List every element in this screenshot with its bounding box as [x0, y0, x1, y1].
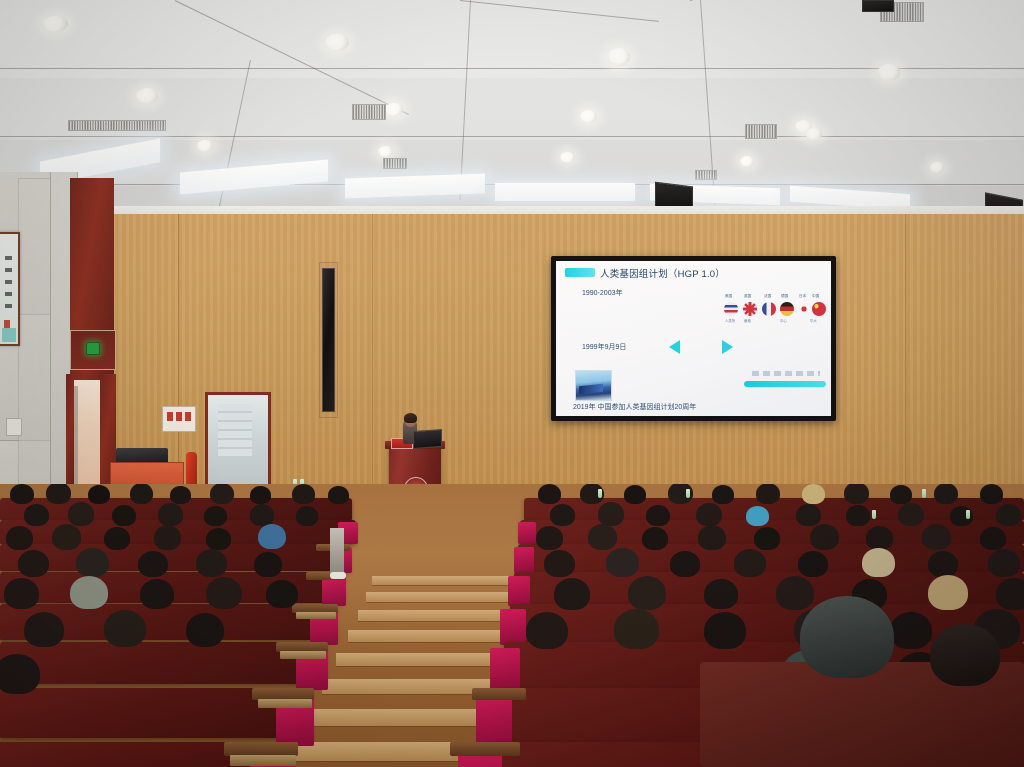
ceiling-downlight — [580, 110, 597, 123]
flag-caption: 法国 — [764, 294, 771, 299]
audience-head — [544, 550, 575, 577]
projection-screen[interactable]: 人类基因组计划（HGP 1.0） 1990-2003年 1999年9月9日 20… — [551, 256, 836, 421]
audience-head — [6, 526, 33, 550]
audience-head — [934, 484, 958, 504]
ceiling-downlight — [325, 34, 349, 51]
wall-box — [6, 418, 22, 436]
title-accent-tag — [565, 268, 595, 277]
audience-head — [930, 624, 1000, 686]
audience-head — [88, 485, 110, 504]
audience-head — [862, 548, 895, 577]
audience-head — [130, 484, 153, 504]
audience-head — [734, 549, 766, 577]
audience-head — [104, 610, 146, 647]
audience-head — [328, 486, 349, 504]
ceiling-downlight — [197, 140, 213, 152]
ceiling-air-vent — [68, 120, 166, 131]
presenter-laptop — [413, 429, 442, 449]
audience-head — [154, 525, 181, 550]
audience-head — [646, 505, 670, 526]
audience-head — [614, 609, 659, 649]
audience-head — [24, 504, 49, 526]
ceiling-downlight — [378, 146, 393, 157]
audience-head — [292, 484, 315, 504]
audience-head — [76, 548, 109, 577]
audience-head — [18, 550, 49, 577]
audience-head — [140, 579, 174, 609]
audience-head — [754, 527, 780, 550]
audience-head — [606, 548, 639, 577]
audience-head — [112, 505, 136, 526]
doorway-tile-detail — [218, 404, 252, 456]
ceiling-air-vent — [352, 104, 386, 120]
audience-head — [846, 505, 870, 526]
audience-head — [70, 576, 108, 609]
ceiling-downlight — [930, 162, 944, 173]
audience-head — [138, 551, 168, 577]
flag-subcaption: 人类所 — [725, 318, 735, 323]
ceiling-downlight — [42, 16, 68, 32]
group-photo-thumbnail — [575, 370, 612, 401]
audience-head — [258, 524, 286, 549]
audience-head — [68, 502, 94, 526]
usa-flag-icon — [724, 302, 738, 316]
audience-head — [538, 484, 561, 504]
audience-head — [170, 486, 191, 504]
audience-head — [266, 580, 298, 608]
audience-head — [696, 503, 722, 526]
audience-head — [802, 484, 825, 504]
audience-head — [800, 596, 894, 678]
audience-head — [526, 612, 568, 649]
audience-head — [24, 612, 64, 647]
ceiling-downlight — [740, 156, 754, 167]
audience-head — [624, 485, 646, 504]
france-flag-icon — [762, 302, 776, 316]
ceiling-panel-light — [495, 183, 635, 201]
flag-caption: 日本 — [799, 294, 806, 299]
audience-head — [996, 504, 1021, 526]
slide-bottom-caption: 2019年 中国参加人类基因组计划20周年 — [573, 402, 696, 412]
column-loudspeaker — [322, 268, 335, 412]
audience-head — [996, 578, 1024, 610]
audience-head — [158, 503, 183, 526]
audience-head — [980, 484, 1003, 504]
audience-head — [554, 578, 590, 610]
emergency-exit-sign — [86, 342, 100, 355]
audience-head — [704, 579, 738, 609]
audience-head — [204, 506, 227, 526]
audience-head — [988, 549, 1020, 577]
audience-head — [810, 524, 839, 550]
audience-head — [104, 527, 130, 550]
audience-head — [928, 551, 958, 577]
audience-head — [890, 485, 912, 504]
water-bottle — [966, 510, 970, 519]
audience-head — [712, 485, 734, 504]
audience-head — [46, 484, 71, 504]
ceiling-downlight — [608, 48, 630, 66]
cyan-highlight-bar — [744, 381, 826, 387]
flag-row: 美国 人类所 英国 桑格 法国 德国 中心 日本 中国 华大 — [724, 294, 828, 324]
audience-head — [296, 506, 318, 526]
flag-subcaption: 中心 — [780, 318, 787, 323]
arrow-left-icon — [669, 340, 680, 354]
germany-flag-icon — [780, 302, 794, 316]
audience-head — [698, 525, 726, 550]
water-bottle — [598, 489, 602, 498]
slide-surface: 人类基因组计划（HGP 1.0） 1990-2003年 1999年9月9日 20… — [556, 261, 831, 416]
water-bottle — [686, 489, 690, 498]
audience-head — [206, 528, 231, 550]
audience-head — [186, 613, 224, 647]
audience-seating — [0, 484, 1024, 767]
audience-head — [250, 486, 271, 504]
audience-head — [704, 612, 746, 649]
ceiling-downlight — [385, 103, 403, 116]
audience-head — [980, 527, 1006, 550]
slide-date-line: 1999年9月9日 — [582, 342, 626, 352]
audience-head — [928, 575, 968, 610]
flag-caption: 美国 — [725, 294, 732, 299]
water-bottle — [922, 489, 926, 498]
lecture-hall-photo: 人类基因组计划（HGP 1.0） 1990-2003年 1999年9月9日 20… — [0, 0, 1024, 767]
audience-head — [254, 552, 282, 577]
audience-head — [588, 524, 617, 550]
calligraphy-scroll — [0, 232, 20, 346]
audience-head — [10, 484, 34, 504]
wall-notice — [162, 406, 196, 432]
slide-title: 人类基因组计划（HGP 1.0） — [600, 266, 725, 280]
ceiling-air-vent — [745, 124, 777, 139]
audience-head — [756, 484, 780, 504]
slide-year-range: 1990-2003年 — [582, 288, 622, 298]
ceiling-downlight — [806, 128, 822, 140]
slide-footnote-text — [752, 371, 820, 376]
standing-attendee — [330, 528, 344, 574]
uk-flag-icon — [743, 302, 757, 316]
flag-subcaption: 桑格 — [744, 318, 751, 323]
arrow-right-icon — [722, 340, 733, 354]
audience-head — [4, 578, 39, 609]
flag-subcaption: 华大 — [810, 318, 817, 323]
presenter-hair — [404, 413, 417, 423]
ceiling-air-vent — [695, 170, 717, 180]
audience-head — [628, 576, 666, 610]
audience-head — [866, 526, 893, 550]
audience-head — [898, 503, 924, 526]
flag-caption: 中国 — [812, 294, 819, 299]
china-flag-icon — [812, 302, 826, 316]
audience-head — [536, 526, 563, 550]
flag-caption: 英国 — [744, 294, 751, 299]
ceiling-speaker — [862, 0, 894, 12]
flag-caption: 德国 — [781, 294, 788, 299]
audience-head — [890, 612, 932, 649]
audience-head — [250, 504, 274, 526]
audience-head — [798, 551, 828, 577]
ceiling-air-vent — [383, 158, 407, 169]
water-bottle — [872, 510, 876, 519]
japan-flag-icon — [800, 305, 808, 313]
standing-attendee-shoe — [330, 572, 346, 579]
audience-head — [746, 506, 769, 526]
audience-head — [210, 484, 234, 504]
audience-head — [196, 549, 227, 577]
audience-head — [598, 502, 624, 526]
audience-head — [206, 577, 242, 609]
ceiling-downlight — [560, 152, 575, 163]
audience-head — [550, 504, 575, 526]
ceiling-downlight — [136, 88, 158, 104]
audience-head — [922, 524, 951, 550]
ceiling-downlight — [878, 64, 900, 81]
audience-head — [670, 551, 700, 577]
audience-head — [796, 504, 821, 526]
audience-head — [776, 576, 814, 610]
audience-head — [844, 484, 869, 504]
audience-head — [0, 654, 40, 694]
audience-head — [642, 527, 668, 550]
audience-head — [52, 524, 81, 550]
